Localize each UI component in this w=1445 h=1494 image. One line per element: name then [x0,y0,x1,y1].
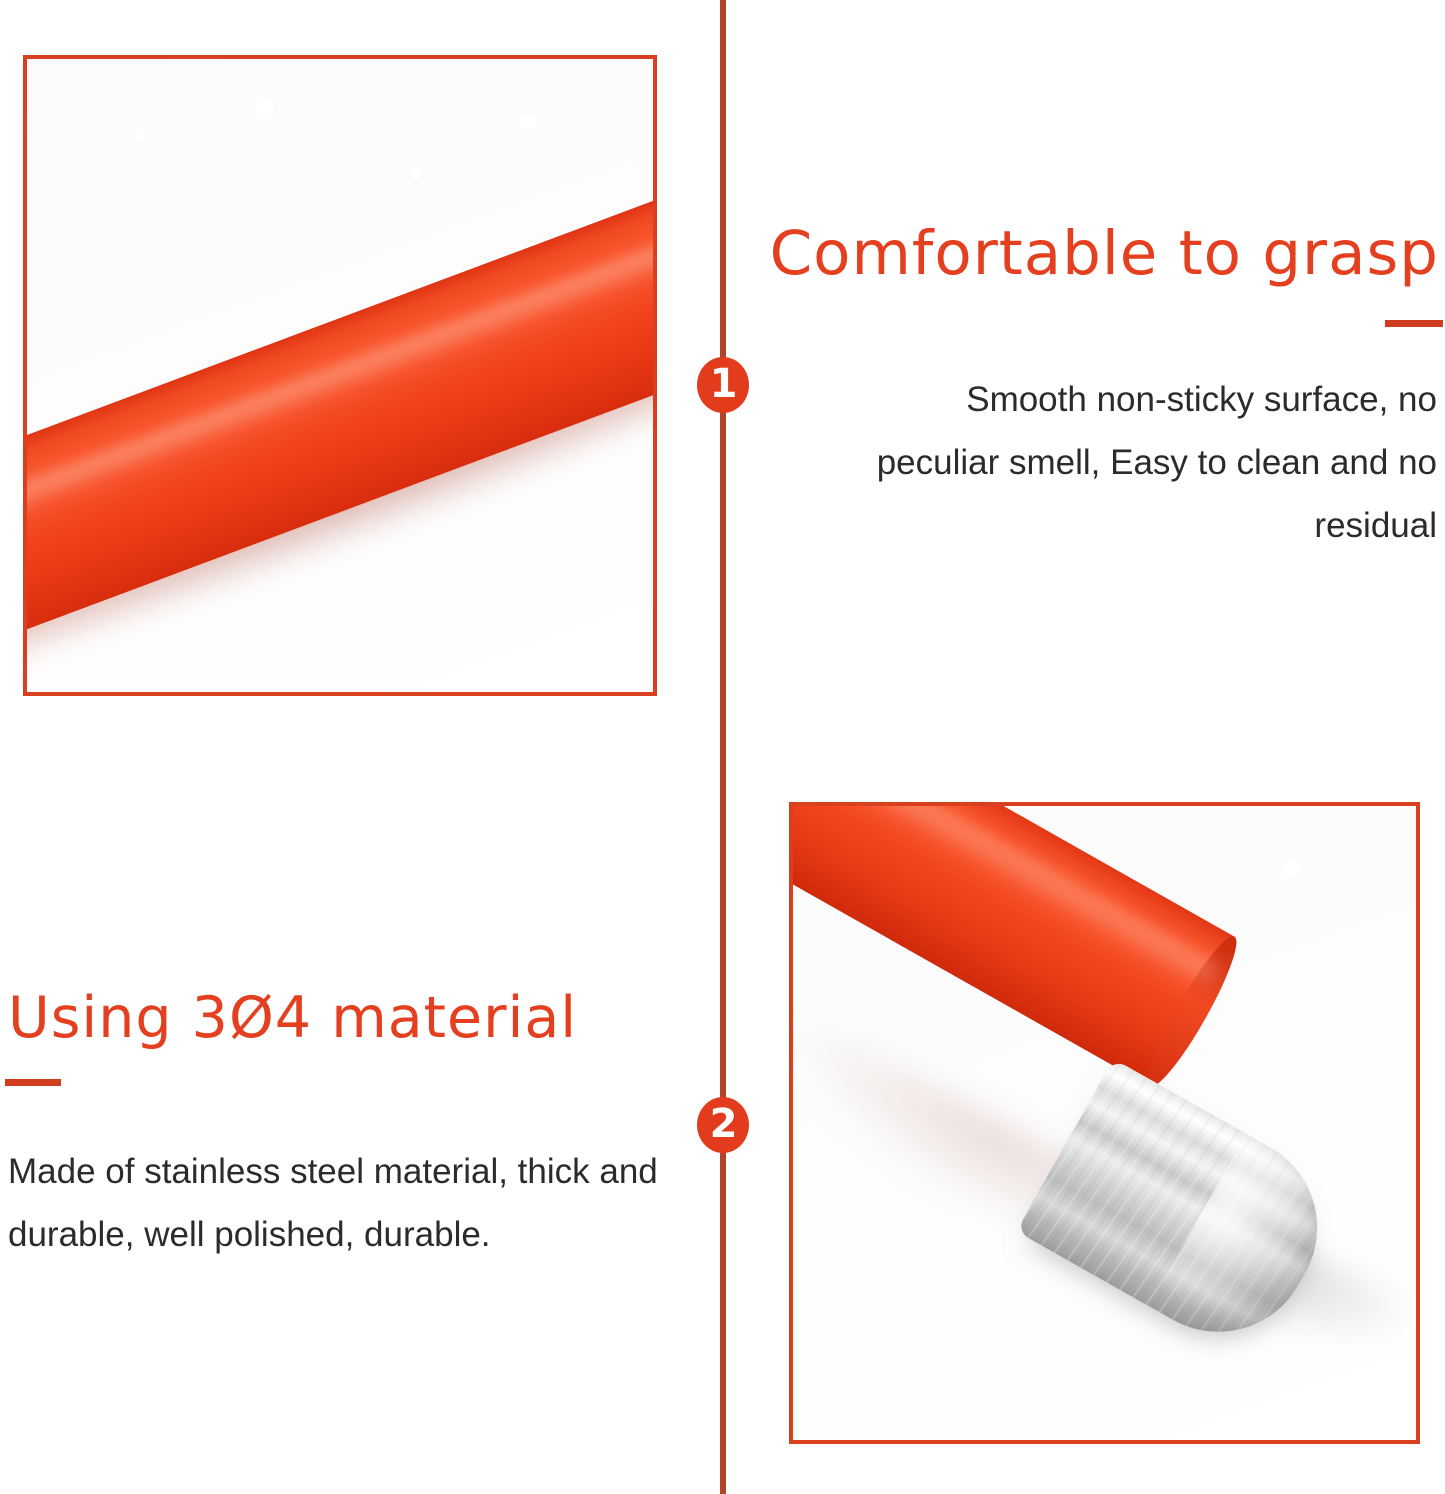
body-copy-using-304-material: Made of stainless steel material, thick … [8,1140,668,1266]
headline-comfortable-to-grasp: Comfortable to grasp [770,218,1439,289]
body-copy-comfortable-to-grasp: Smooth non-sticky surface, no peculiar s… [857,368,1437,557]
product-photo-steel-cap [789,802,1420,1444]
timeline-divider [720,0,726,1494]
product-infographic: 1 2 Comfortable to grasp Smooth non-stic… [0,0,1445,1494]
step-badge-2: 2 [697,1097,749,1153]
headline-underline-rule [1385,320,1443,327]
headline-underline-rule [5,1079,61,1086]
headline-using-304-material: Using 3Ø4 material [8,985,577,1051]
product-photo-grasp [23,55,657,696]
step-badge-1: 1 [697,357,749,413]
